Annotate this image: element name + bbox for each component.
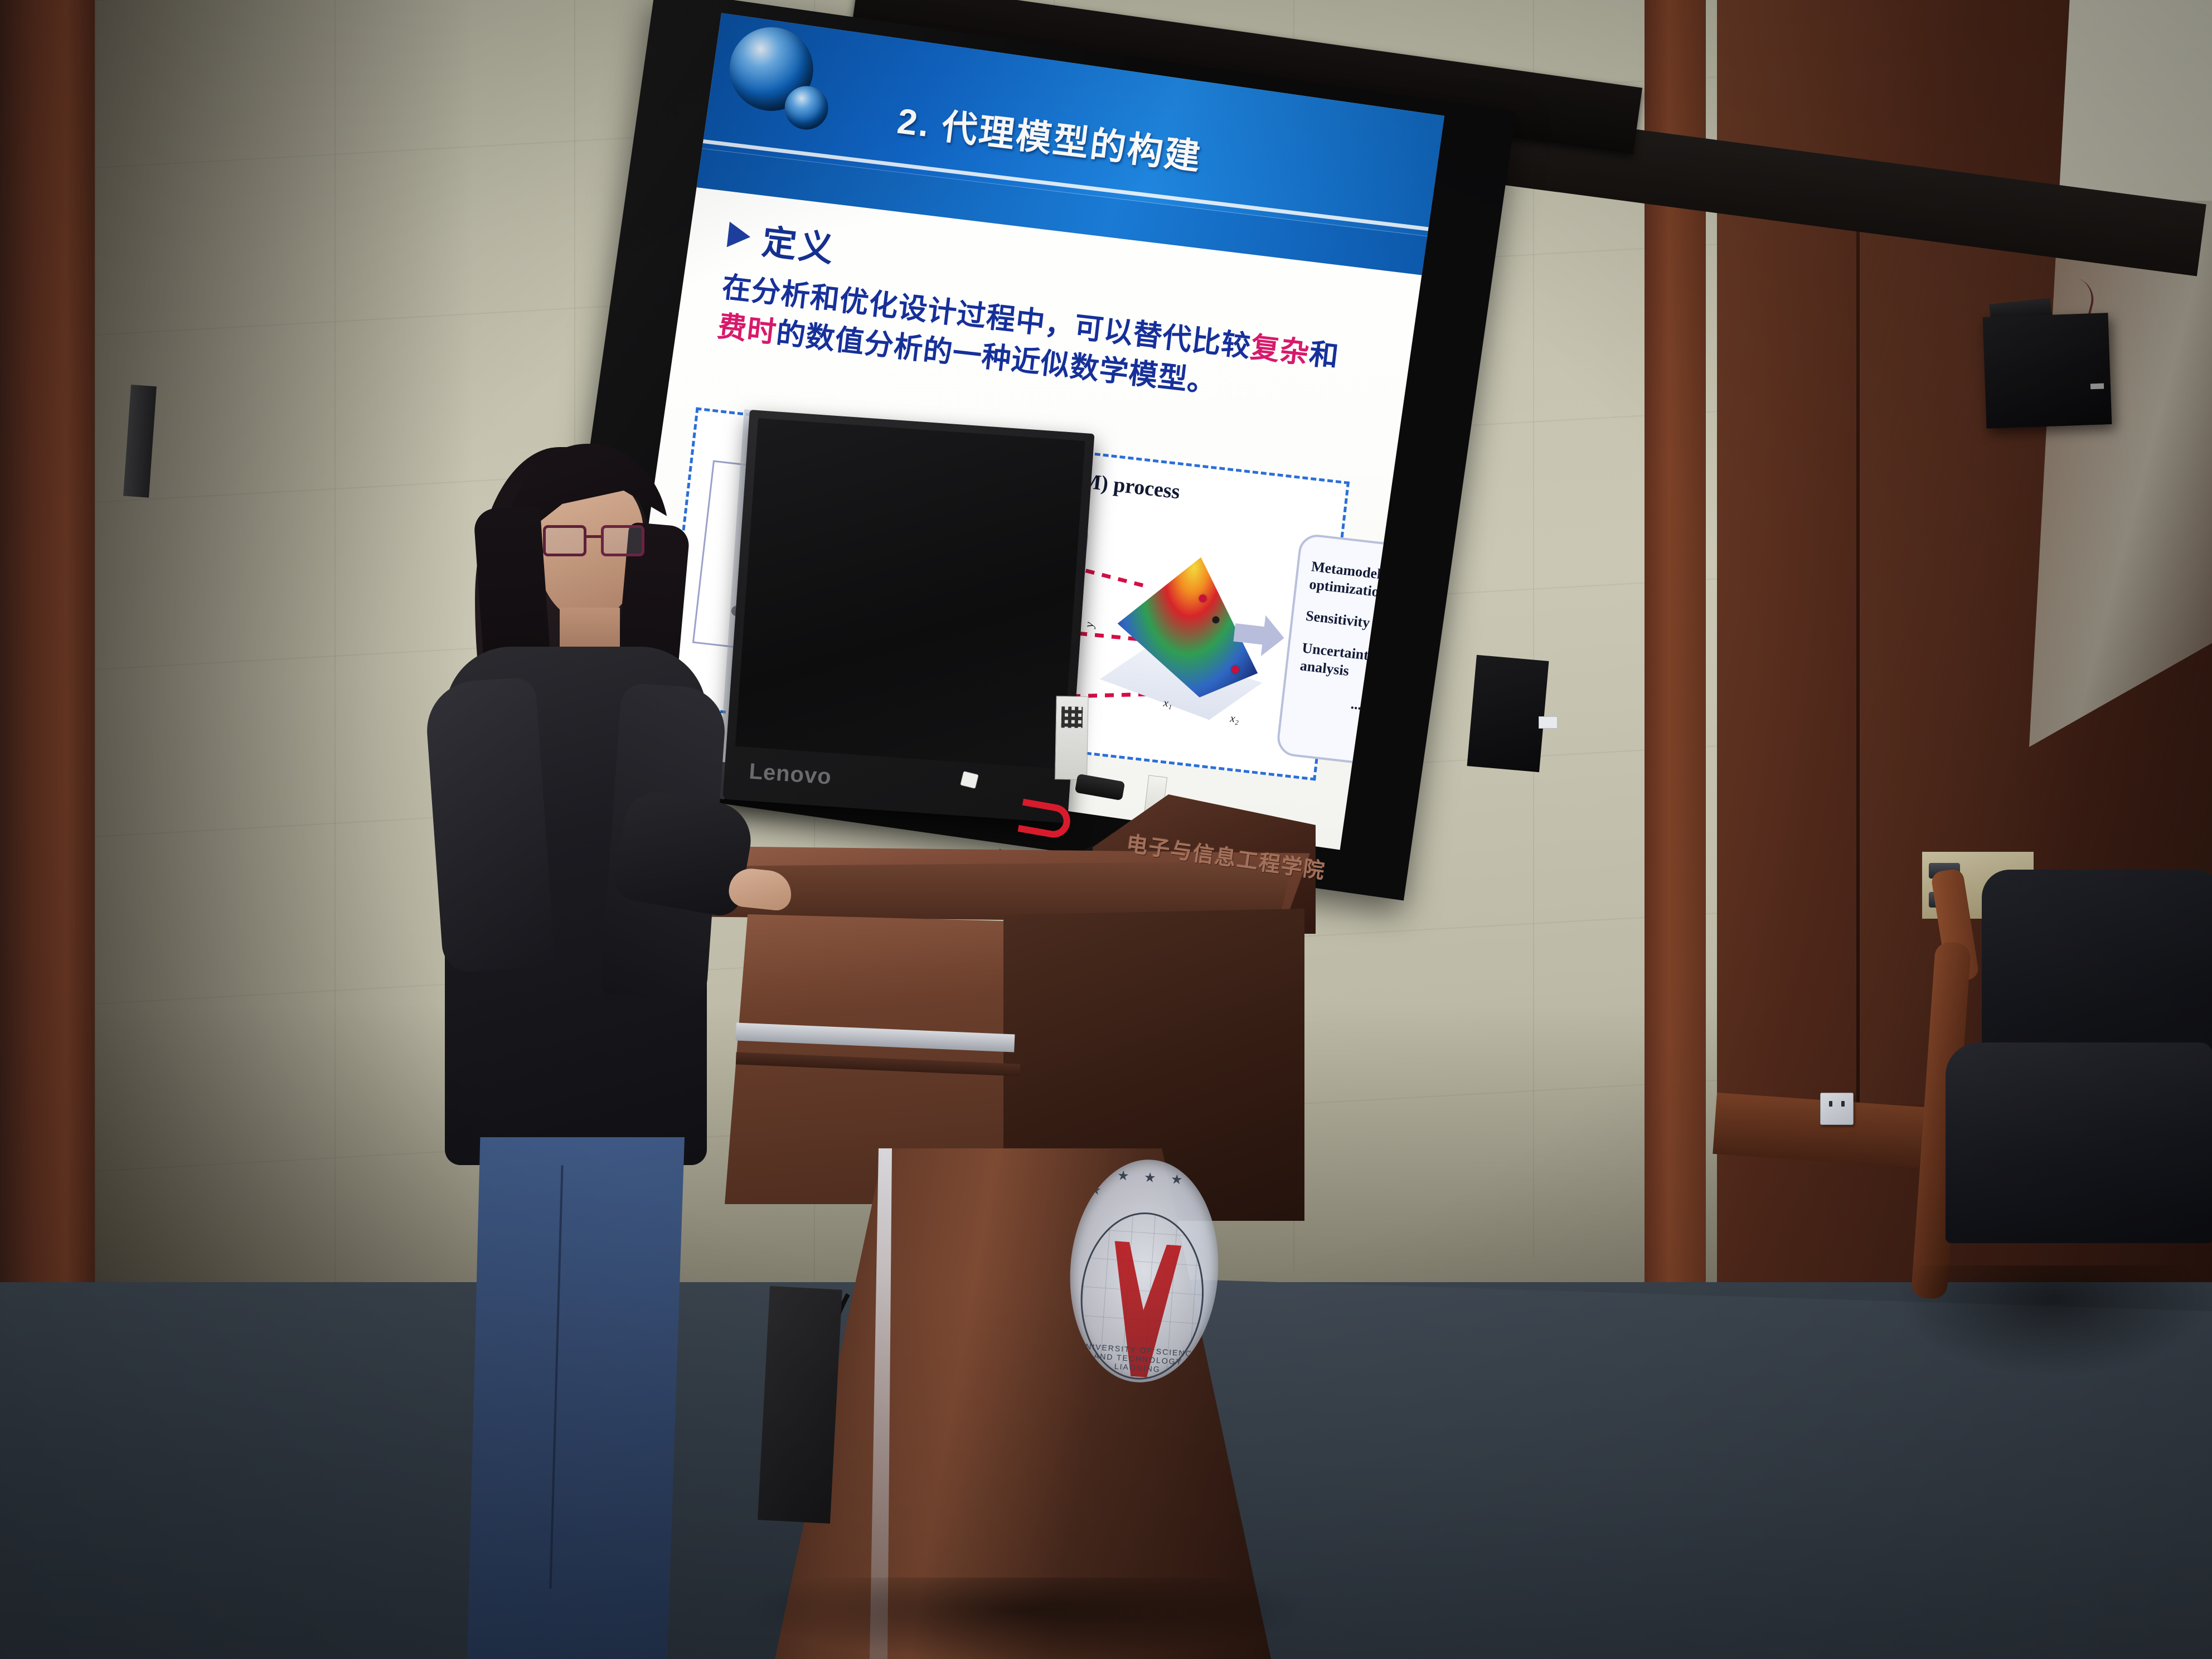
lecture-hall-scene: 2. 代理模型的构建 定义 在分析和优化设计过程中，可以替代比较复杂和 费时的数…	[0, 0, 2212, 1659]
jacket-shoulder-left	[424, 677, 555, 974]
arrow-right-icon	[727, 222, 752, 250]
eyeglasses-icon	[543, 525, 649, 557]
chair-seat[interactable]	[1946, 1042, 2212, 1243]
presenter	[424, 440, 780, 1659]
podium-shadow	[747, 1578, 1304, 1659]
glasses-lens-right	[601, 525, 644, 556]
qr-code-icon	[1061, 706, 1083, 728]
chair-shadow	[1895, 1265, 2212, 1377]
speaker-badge	[2090, 383, 2104, 389]
glasses-lens-left	[543, 525, 586, 556]
bullet-heading: 定义	[760, 214, 838, 271]
wall-socket-icon[interactable]	[1820, 1093, 1854, 1125]
highlight-word: 复杂	[1249, 331, 1311, 370]
highlight-word: 费时	[716, 310, 778, 349]
glasses-bridge	[586, 535, 601, 538]
blue-jeans	[467, 1137, 685, 1659]
wall-dark-patch	[1467, 655, 1549, 773]
axis-label-y: y	[1081, 621, 1097, 628]
monitor-display[interactable]	[735, 418, 1085, 769]
wall-label-tag	[1539, 716, 1558, 729]
axis-label-x1: x₁	[1163, 697, 1173, 711]
left-wood-column	[0, 0, 95, 1505]
wall-speaker	[1983, 313, 2112, 429]
axis-label-x2: x₂	[1229, 712, 1239, 726]
